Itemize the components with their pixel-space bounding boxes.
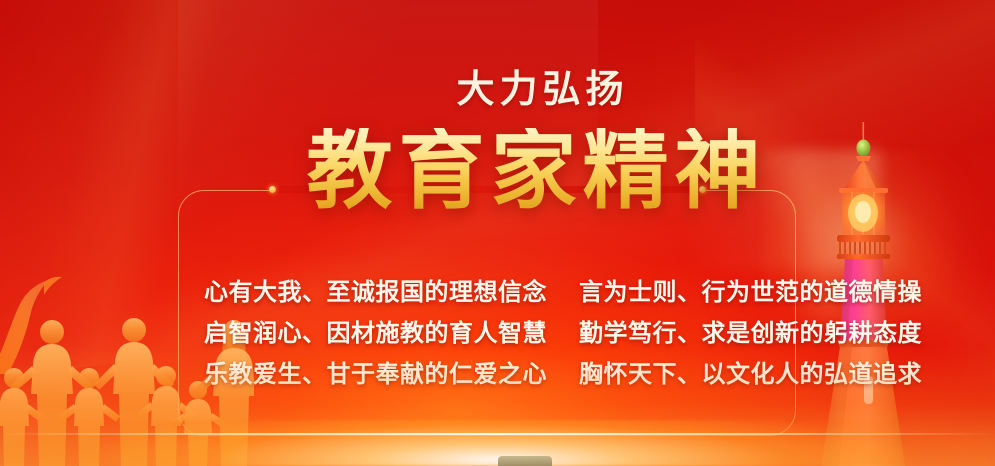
education-spirit-banner: 大力弘扬 教育家精神 心有大我、至诚报国的理想信念 言为士则、行为世范的道德情操… [0, 0, 995, 466]
horizon-line [0, 433, 995, 435]
slogan-right-2: 勤学笃行、求是创新的躬耕态度 [569, 313, 922, 348]
slogan-left-2: 启智润心、因材施教的育人智慧 [204, 313, 551, 348]
top-heading: 大力弘扬 [0, 58, 995, 113]
bottom-plate [498, 456, 552, 466]
main-title: 教育家精神 [0, 128, 995, 214]
slogan-right-1: 言为士则、行为世范的道德情操 [569, 272, 922, 307]
slogan-left-1: 心有大我、至诚报国的理想信念 [204, 272, 551, 307]
